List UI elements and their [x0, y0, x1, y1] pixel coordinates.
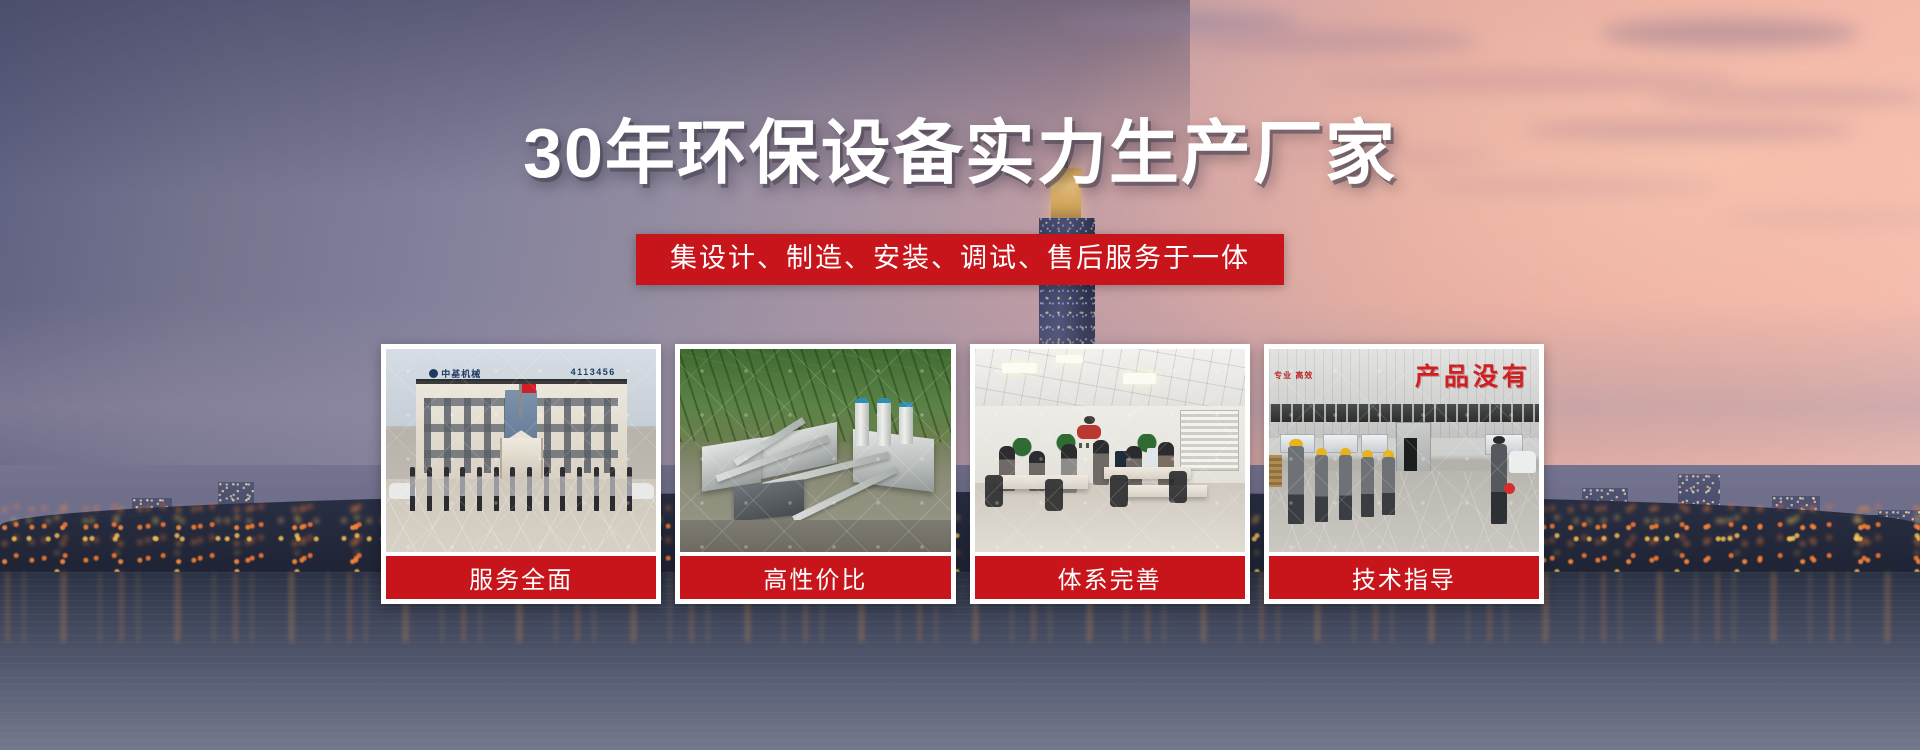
- head-office-building-photo: 中基机械 4113456: [386, 349, 656, 552]
- company-phone-text: 4113456: [571, 367, 616, 377]
- company-sign-text: 中基机械: [429, 367, 481, 380]
- feature-card-row: 中基机械 4113456 服务全面: [381, 344, 1544, 604]
- workshop-sign-text: 产品没有: [1415, 357, 1531, 393]
- workshop-slogan-text: 专业 高效: [1274, 371, 1313, 382]
- subheadline-ribbon: 集设计、制造、安装、调试、售后服务于一体: [636, 234, 1284, 285]
- feature-card-system[interactable]: 体系完善: [970, 344, 1250, 604]
- feature-card-label: 高性价比: [680, 556, 950, 599]
- subheadline-container: 集设计、制造、安装、调试、售后服务于一体: [0, 234, 1920, 285]
- feature-card-guidance[interactable]: 专业 高效 产品没有: [1264, 344, 1544, 604]
- aerial-plant-photo: [680, 349, 950, 552]
- feature-card-label: 体系完善: [975, 556, 1245, 599]
- page-title: 30年环保设备实力生产厂家: [0, 118, 1920, 188]
- workshop-workers-photo: 专业 高效 产品没有: [1269, 349, 1539, 552]
- feature-card-label: 技术指导: [1269, 556, 1539, 599]
- feature-card-service[interactable]: 中基机械 4113456 服务全面: [381, 344, 661, 604]
- feature-card-label: 服务全面: [386, 556, 656, 599]
- feature-card-value[interactable]: 高性价比: [675, 344, 955, 604]
- hero-banner: 30年环保设备实力生产厂家 集设计、制造、安装、调试、售后服务于一体 中基机械 …: [0, 0, 1920, 750]
- office-interior-photo: [975, 349, 1245, 552]
